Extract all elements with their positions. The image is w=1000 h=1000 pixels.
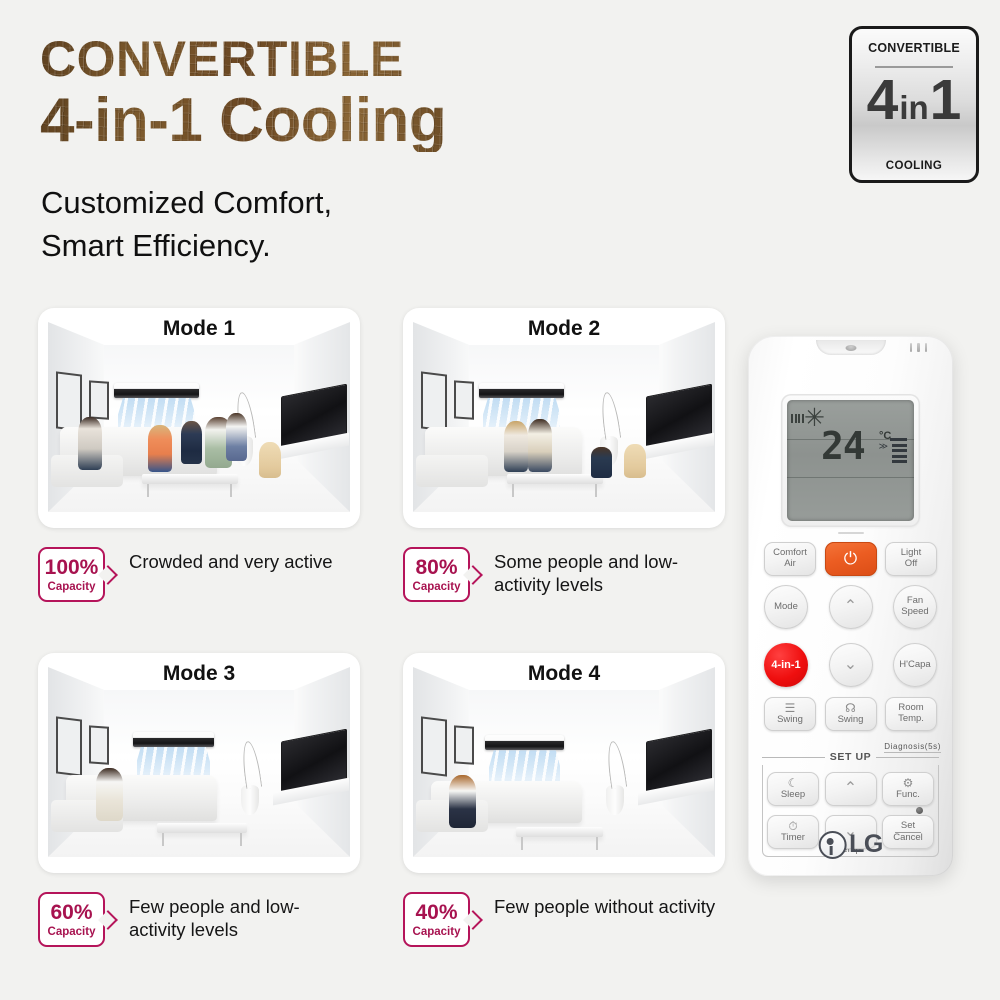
swing-vertical-label: Swing xyxy=(777,715,803,726)
chevron-down-icon: ⌄ xyxy=(844,656,857,674)
badge-digit-4: 4 xyxy=(867,72,899,129)
fan-speed-button[interactable]: Fan Speed xyxy=(893,585,937,629)
timer-button[interactable]: ⏱ Timer xyxy=(767,815,819,849)
lcd-notch xyxy=(838,532,864,534)
swing-horizontal-label: Swing xyxy=(838,715,864,726)
ir-emitter-icon xyxy=(816,340,886,355)
temp-down-button[interactable]: ⌄ xyxy=(829,643,873,687)
picture-frame-icon xyxy=(56,372,82,432)
set-label: Set xyxy=(895,821,921,833)
coffee-table xyxy=(157,823,248,833)
remote-row-1: Comfort Air ⏻ Light Off xyxy=(764,542,937,576)
mode-card: Mode 1 xyxy=(38,308,360,602)
badge-word-in: in xyxy=(899,91,928,124)
hcapa-label: H'Capa xyxy=(899,660,930,671)
remote-row-2: Mode ⌃ Fan Speed xyxy=(764,585,937,629)
person-figure xyxy=(78,417,102,470)
ir-receiver-dot xyxy=(916,807,923,814)
mode-card: Mode 4 xyxy=(403,653,725,947)
mode-2-scene-image: Mode 2 xyxy=(403,308,725,528)
gear-icon: ⚙ xyxy=(903,777,914,789)
ac-body xyxy=(114,383,199,398)
person-figure xyxy=(528,419,552,472)
four-in-one-button[interactable]: 4-in-1 xyxy=(764,643,808,687)
person-figure xyxy=(504,421,528,472)
setup-up-button[interactable]: ⌃ xyxy=(825,772,877,806)
timer-label: Timer xyxy=(781,833,805,844)
sleep-label: Sleep xyxy=(781,790,805,801)
mode-title: Mode 2 xyxy=(403,317,725,341)
ac-body xyxy=(133,732,215,747)
badge-bottom-label: COOLING xyxy=(886,160,942,172)
picture-frame-icon xyxy=(89,725,109,764)
coffee-table xyxy=(516,827,604,837)
person-figure xyxy=(181,421,202,465)
mode-caption-row: 60% Capacity Few people and low-activity… xyxy=(38,892,360,947)
lcd-display: ✳ 24 °C ≫ xyxy=(787,400,914,521)
lcd-fan-label: ≫ xyxy=(879,441,888,452)
sofa-chaise xyxy=(416,455,488,487)
person-figure xyxy=(591,447,612,477)
mode-card: Mode 3 xyxy=(38,653,360,947)
remote-row-3: 4-in-1 ⌄ H'Capa xyxy=(764,643,937,687)
mode-caption-row: 100% Capacity Crowded and very active xyxy=(38,547,360,602)
person-figure xyxy=(148,425,172,473)
capacity-percent: 100% xyxy=(45,557,99,578)
headline-line-2: 4-in-1 Cooling xyxy=(40,90,640,152)
subheadline-line-2: Smart Efficiency. xyxy=(41,225,332,268)
lcd-temperature-value: 24 xyxy=(821,427,865,465)
person-figure xyxy=(226,413,247,461)
comfort-air-label-2: Air xyxy=(784,559,796,570)
capacity-label: Capacity xyxy=(413,926,461,938)
lcd-divider-bottom xyxy=(787,477,914,478)
mode-description: Crowded and very active xyxy=(129,547,333,573)
room-temp-button[interactable]: Room Temp. xyxy=(885,697,937,731)
room-temp-label-2: Temp. xyxy=(898,714,924,725)
picture-frame-icon xyxy=(89,380,109,419)
mode-1-scene-image: Mode 1 xyxy=(38,308,360,528)
fan-speed-label-2: Speed xyxy=(901,607,928,618)
capacity-label: Capacity xyxy=(48,581,96,593)
mode-button[interactable]: Mode xyxy=(764,585,808,629)
hcapa-button[interactable]: H'Capa xyxy=(893,643,937,687)
convertible-4in1-cooling-badge: CONVERTIBLE 4 in 1 COOLING xyxy=(849,26,979,183)
clock-icon: ⏱ xyxy=(788,820,797,832)
mode-3-scene-image: Mode 3 xyxy=(38,653,360,873)
ac-remote-control: ✳ 24 °C ≫ Comfort Air ⏻ Light Off xyxy=(748,336,953,876)
dog-figure xyxy=(259,442,280,478)
setup-row-1: ☾ Sleep ⌃ ⚙ Func. xyxy=(767,772,934,806)
room-illustration xyxy=(413,322,715,512)
mode-description: Few people without activity xyxy=(494,892,715,918)
badge-digit-1: 1 xyxy=(930,72,962,129)
capacity-badge: 100% Capacity xyxy=(38,547,105,602)
mode-4-scene-image: Mode 4 xyxy=(403,653,725,873)
sleep-button[interactable]: ☾ Sleep xyxy=(767,772,819,806)
swing-vertical-icon: ☰ xyxy=(785,702,796,714)
coffee-table xyxy=(507,474,604,484)
swing-vertical-button[interactable]: ☰ Swing xyxy=(764,697,816,731)
light-off-button[interactable]: Light Off xyxy=(885,542,937,576)
room-illustration xyxy=(48,667,350,857)
cancel-label: Cancel xyxy=(893,833,923,844)
led-indicator-slots xyxy=(910,343,928,352)
room-illustration xyxy=(48,322,350,512)
mode-description: Some people and low-activity levels xyxy=(494,547,719,597)
capacity-badge: 40% Capacity xyxy=(403,892,470,947)
setup-rule-left xyxy=(762,757,825,758)
capacity-label: Capacity xyxy=(48,926,96,938)
four-in-one-label: 4-in-1 xyxy=(771,659,800,671)
mode-title: Mode 3 xyxy=(38,662,360,686)
func-label: Func. xyxy=(896,790,920,801)
swing-horizontal-icon: ☊ xyxy=(845,702,856,714)
coffee-table xyxy=(142,474,239,484)
promo-page: CONVERTIBLE 4-in-1 Cooling Customized Co… xyxy=(0,0,1000,1000)
badge-top-label: CONVERTIBLE xyxy=(868,41,960,55)
mode-title: Mode 4 xyxy=(403,662,725,686)
picture-frame-icon xyxy=(454,725,474,764)
mode-caption-row: 80% Capacity Some people and low-activit… xyxy=(403,547,725,602)
moon-icon: ☾ xyxy=(788,777,799,789)
setup-label: SET UP xyxy=(825,751,877,763)
set-cancel-button[interactable]: Set Cancel xyxy=(882,815,934,849)
capacity-badge: 60% Capacity xyxy=(38,892,105,947)
headline-line-1: CONVERTIBLE xyxy=(40,34,640,84)
mode-description: Few people and low-activity levels xyxy=(129,892,354,942)
ac-body xyxy=(479,383,564,398)
lg-face-mark-icon xyxy=(818,831,846,859)
swing-horizontal-button[interactable]: ☊ Swing xyxy=(825,697,877,731)
lcd-bezel: ✳ 24 °C ≫ xyxy=(781,394,920,527)
mode-title: Mode 1 xyxy=(38,317,360,341)
light-off-label-2: Off xyxy=(905,559,918,570)
headline-block: CONVERTIBLE 4-in-1 Cooling xyxy=(40,34,640,152)
dog-figure xyxy=(624,444,645,478)
capacity-badge: 80% Capacity xyxy=(403,547,470,602)
badge-4in1-mark: 4 in 1 xyxy=(867,72,962,129)
chevron-up-icon: ⌃ xyxy=(844,598,857,616)
picture-frame-icon xyxy=(421,372,447,432)
comfort-air-button[interactable]: Comfort Air xyxy=(764,542,816,576)
power-icon: ⏻ xyxy=(844,549,857,568)
remote-button-grid: Comfort Air ⏻ Light Off Mode ⌃ xyxy=(764,542,937,740)
mode-card: Mode 2 xyxy=(403,308,725,602)
power-button[interactable]: ⏻ xyxy=(825,542,877,576)
ac-body xyxy=(485,735,564,750)
room-illustration xyxy=(413,667,715,857)
lg-logo: LG xyxy=(818,830,883,859)
diagnosis-label: Diagnosis(5s) xyxy=(884,742,941,753)
mode-caption-row: 40% Capacity Few people without activity xyxy=(403,892,725,947)
picture-frame-icon xyxy=(56,717,82,777)
capacity-label: Capacity xyxy=(413,581,461,593)
lg-wordmark: LG xyxy=(849,830,883,859)
temp-up-button[interactable]: ⌃ xyxy=(829,585,873,629)
subheadline-block: Customized Comfort, Smart Efficiency. xyxy=(41,182,332,268)
remote-row-4: ☰ Swing ☊ Swing Room Temp. xyxy=(764,697,937,731)
mode-label: Mode xyxy=(774,602,798,613)
capacity-percent: 80% xyxy=(415,557,457,578)
setup-rule-right xyxy=(876,757,939,758)
chevron-up-icon: ⌃ xyxy=(844,780,857,798)
picture-frame-icon xyxy=(454,380,474,419)
subheadline-line-1: Customized Comfort, xyxy=(41,182,332,225)
picture-frame-icon xyxy=(421,717,447,777)
capacity-percent: 60% xyxy=(50,902,92,923)
person-figure xyxy=(449,775,476,828)
setup-legend: SET UP Diagnosis(5s) xyxy=(762,751,939,763)
lcd-mode-bars-icon xyxy=(791,414,804,423)
capacity-percent: 40% xyxy=(415,902,457,923)
person-figure xyxy=(96,768,123,821)
func-button[interactable]: ⚙ Func. xyxy=(882,772,934,806)
lcd-fan-bars-icon xyxy=(890,438,907,463)
